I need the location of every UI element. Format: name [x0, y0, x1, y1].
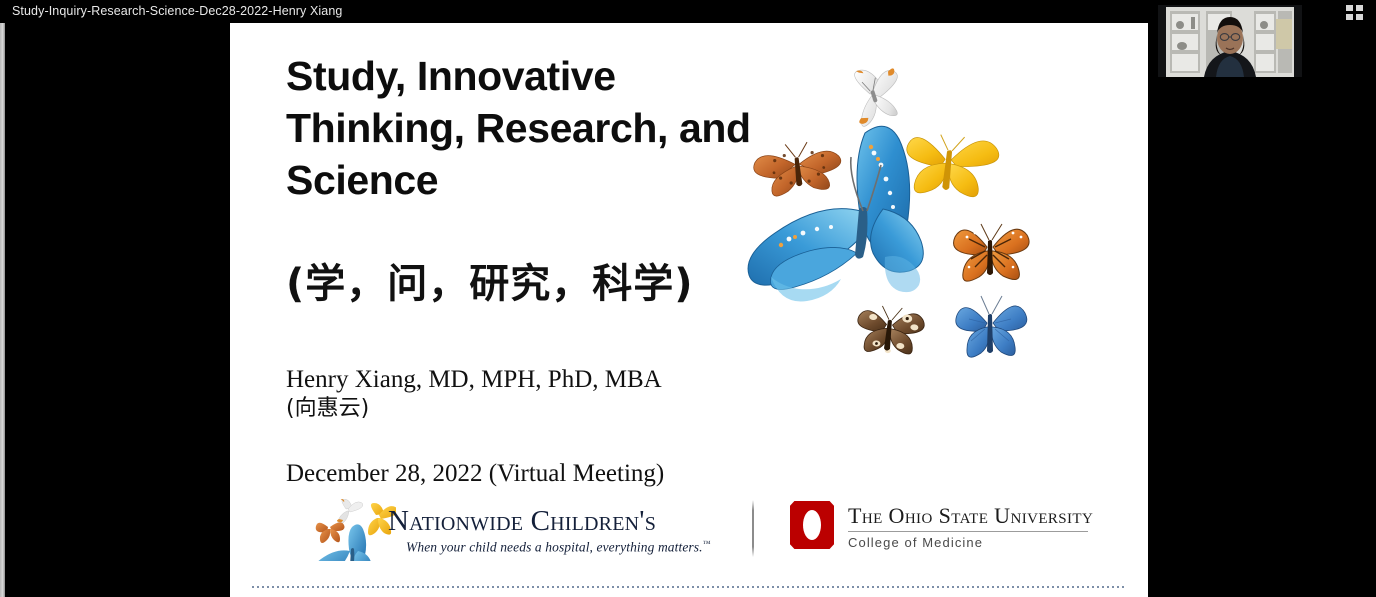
ohio-state-subtitle: College of Medicine — [848, 535, 983, 550]
slide-logo-row: Nationwide Children's When your child ne… — [290, 493, 1130, 565]
ohio-state-rule — [848, 531, 1088, 532]
slide-author-name: Henry Xiang, MD, MPH, PhD, MBA — [286, 366, 662, 393]
webcam-video-frame — [1158, 5, 1302, 77]
trademark-symbol: ™ — [703, 539, 711, 548]
slide-canvas[interactable]: Study, Innovative Thinking, Research, an… — [230, 23, 1148, 597]
grid-cell — [1346, 5, 1353, 11]
nationwide-childrens-logo: Nationwide Children's When your child ne… — [310, 499, 720, 565]
butterfly-yellow — [902, 131, 1000, 200]
block-o-icon — [790, 501, 834, 549]
presentation-viewer: Study-Inquiry-Research-Science-Dec28-202… — [0, 0, 1376, 597]
butterfly-blue-small — [956, 296, 1027, 357]
webcam-thumbnail[interactable] — [1158, 5, 1302, 77]
butterfly-cluster-icon — [310, 499, 396, 561]
slide-author-name-chinese: (向惠云) — [286, 394, 756, 423]
left-edge-rail — [0, 23, 5, 597]
butterflies-illustration — [735, 61, 1055, 391]
slide-title: Study, Innovative Thinking, Research, an… — [286, 50, 756, 206]
butterfly-rust — [752, 139, 844, 198]
nationwide-childrens-name: Nationwide Children's — [388, 505, 656, 538]
stage-right-letterbox — [1148, 23, 1376, 597]
nationwide-childrens-tagline: When your child needs a hospital, everyt… — [406, 539, 711, 556]
slide-subtitle-chinese: (学，问，研究，科学) — [286, 258, 746, 310]
tagline-text: When your child needs a hospital, everyt… — [406, 540, 703, 555]
ohio-state-logo: The Ohio State University College of Med… — [790, 499, 1090, 559]
window-title: Study-Inquiry-Research-Science-Dec28-202… — [12, 2, 342, 21]
butterfly-white — [844, 61, 909, 128]
butterfly-monarch — [954, 224, 1030, 281]
ohio-state-name: The Ohio State University — [848, 503, 1093, 529]
stage-left-letterbox — [5, 23, 230, 597]
grid-cell — [1356, 5, 1363, 11]
logo-divider — [752, 500, 754, 557]
slide-date: December 28, 2022 (Virtual Meeting) — [286, 459, 786, 489]
butterfly-brown — [855, 304, 926, 358]
grid-view-icon[interactable] — [1346, 5, 1363, 21]
slide-author-block: Henry Xiang, MD, MPH, PhD, MBA (向惠云) — [286, 365, 756, 423]
slide-bottom-dotted-rule — [252, 586, 1126, 588]
butterfly-blue-large — [748, 126, 923, 301]
grid-cell — [1346, 14, 1353, 20]
grid-cell — [1356, 14, 1363, 20]
